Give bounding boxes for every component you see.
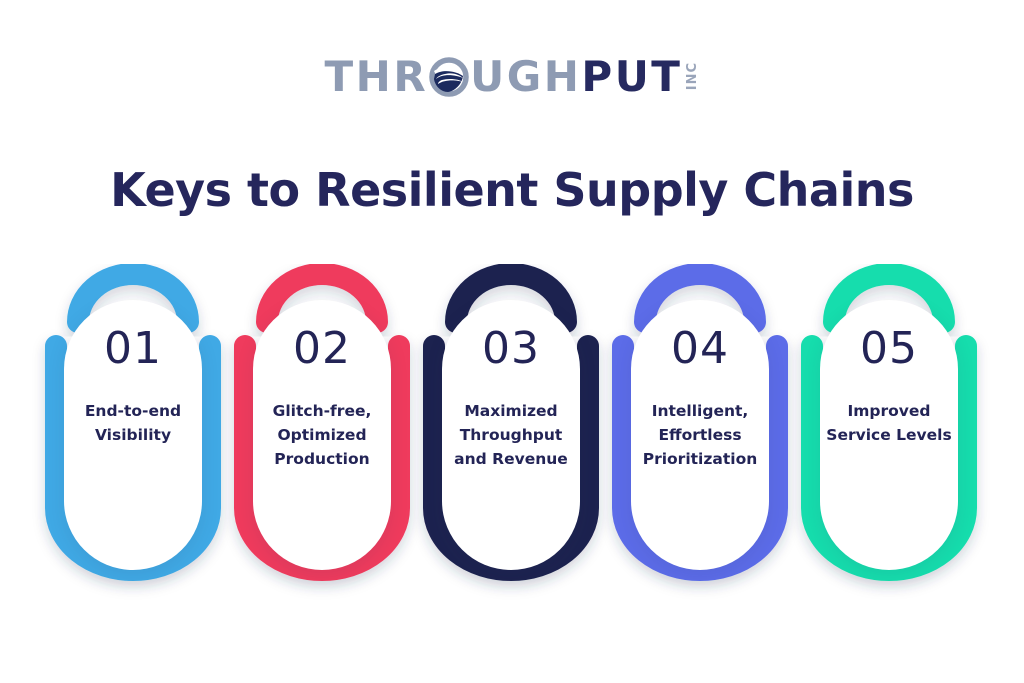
card-number: 01	[104, 327, 162, 371]
logo-lockup: THR UGH PUT INC	[325, 56, 700, 98]
card-content: 01End-to-end Visibility	[64, 300, 202, 570]
card-number: 04	[671, 327, 729, 371]
card-improved-service-levels[interactable]: 05Improved Service Levels	[798, 272, 980, 584]
card-label: End-to-end Visibility	[66, 399, 200, 447]
card-label: Intelligent, Effortless Prioritization	[633, 399, 767, 472]
card-label: Glitch-free, Optimized Production	[255, 399, 389, 472]
card-content: 04Intelligent, Effortless Prioritization	[631, 300, 769, 570]
card-number: 03	[482, 327, 540, 371]
card-intelligent-effortless-prioritization[interactable]: 04Intelligent, Effortless Prioritization	[609, 272, 791, 584]
logo-text-inc: INC	[686, 62, 699, 90]
infographic-page: THR UGH PUT INC Keys to Resilient Supply…	[0, 0, 1024, 683]
logo-text-thr: THR	[325, 56, 429, 98]
cards-row: 01End-to-end Visibility02Glitch-free, Op…	[0, 272, 1024, 592]
card-maximized-throughput-and-revenue[interactable]: 03Maximized Throughput and Revenue	[420, 272, 602, 584]
logo-text-ugh: UGH	[470, 56, 581, 98]
globe-logo-mark-icon	[429, 57, 469, 97]
card-label: Maximized Throughput and Revenue	[444, 399, 578, 472]
card-end-to-end-visibility[interactable]: 01End-to-end Visibility	[42, 272, 224, 584]
card-glitch-free-optimized-production[interactable]: 02Glitch-free, Optimized Production	[231, 272, 413, 584]
card-number: 05	[860, 327, 918, 371]
card-content: 03Maximized Throughput and Revenue	[442, 300, 580, 570]
page-title: Keys to Resilient Supply Chains	[0, 165, 1024, 216]
card-content: 05Improved Service Levels	[820, 300, 958, 570]
card-label: Improved Service Levels	[822, 399, 956, 447]
brand-logo: THR UGH PUT INC	[0, 56, 1024, 98]
card-content: 02Glitch-free, Optimized Production	[253, 300, 391, 570]
logo-text-put: PUT	[581, 56, 682, 98]
card-number: 02	[293, 327, 351, 371]
